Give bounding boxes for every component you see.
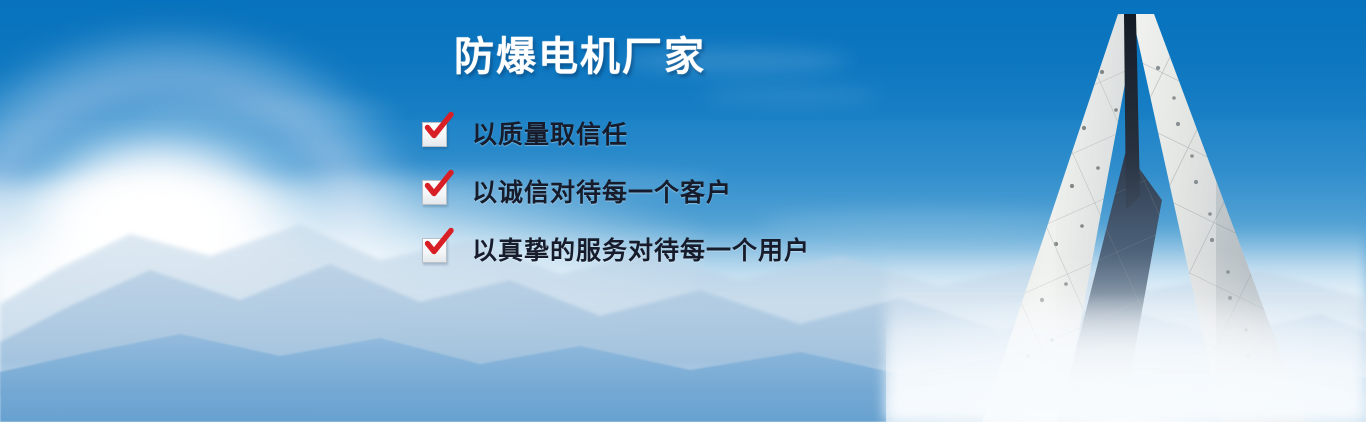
page-title: 防爆电机厂家: [454, 24, 706, 82]
list-item-label: 以诚信对待每一个客户: [472, 173, 732, 209]
list-item: 以真挚的服务对待每一个用户: [418, 220, 810, 278]
red-check-box-icon: [422, 177, 450, 205]
cloud-wisp: [140, 100, 400, 122]
list-item-label: 以真挚的服务对待每一个用户: [472, 231, 810, 267]
red-check-box-icon: [422, 119, 450, 147]
red-check-box-icon: [422, 235, 450, 263]
promo-banner: 防爆电机厂家 以质量取信任 以诚信对待每一个客户: [0, 0, 1366, 422]
list-item: 以质量取信任: [418, 104, 810, 162]
monument-apex-slot: [1124, 14, 1140, 210]
list-item: 以诚信对待每一个客户: [418, 162, 810, 220]
monument-base-fog: [886, 270, 1366, 422]
concrete-monument-structure: [886, 0, 1366, 422]
feature-list: 以质量取信任 以诚信对待每一个客户 以真挚的服务对待: [418, 104, 810, 278]
cloud-wisp: [700, 86, 880, 104]
list-item-label: 以质量取信任: [472, 115, 628, 151]
